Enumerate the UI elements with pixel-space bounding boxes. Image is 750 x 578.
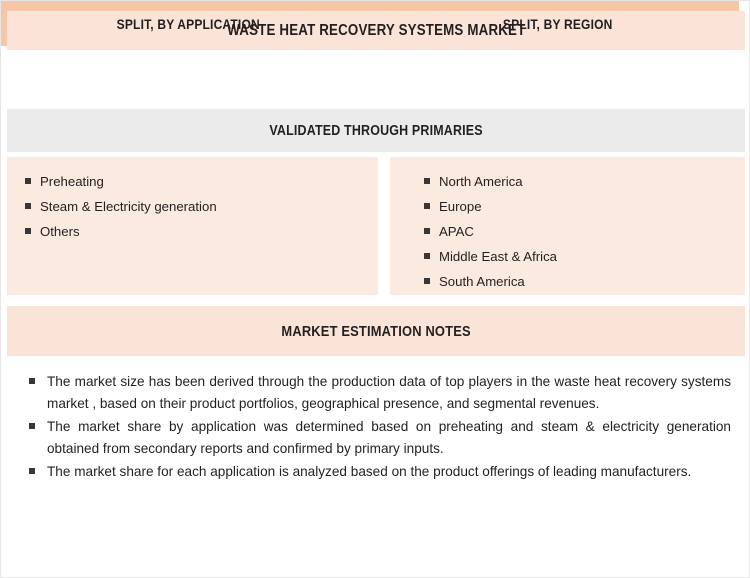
- application-item-label: Steam & Electricity generation: [40, 199, 217, 214]
- split-by-application-label: SPLIT, BY APPLICATION: [117, 16, 260, 32]
- validated-through-primaries-band: VALIDATED THROUGH PRIMARIES: [7, 109, 745, 152]
- list-item: South America: [422, 269, 729, 294]
- split-by-region-label: SPLIT, BY REGION: [503, 16, 613, 32]
- list-item: Middle East & Africa: [422, 244, 729, 269]
- list-item: Europe: [422, 194, 729, 219]
- list-item: The market share for each application is…: [21, 461, 731, 483]
- application-item-label: Others: [40, 224, 80, 239]
- region-item-label: South America: [439, 274, 525, 289]
- notes-list: The market size has been derived through…: [21, 371, 731, 483]
- region-item-label: Europe: [439, 199, 482, 214]
- list-item: Others: [23, 219, 362, 244]
- application-list: Preheating Steam & Electricity generatio…: [23, 169, 362, 244]
- list-item: North America: [422, 169, 729, 194]
- application-item-label: Preheating: [40, 174, 104, 189]
- market-title-label: WASTE HEAT RECOVERY SYSTEMS MARKET: [227, 22, 525, 40]
- region-item-label: APAC: [439, 224, 474, 239]
- note-text: The market share by application was dete…: [47, 419, 731, 456]
- validated-through-primaries-label: VALIDATED THROUGH PRIMARIES: [269, 123, 482, 139]
- list-item: The market share by application was dete…: [21, 416, 731, 459]
- region-item-label: Middle East & Africa: [439, 249, 557, 264]
- note-text: The market size has been derived through…: [47, 374, 731, 411]
- list-item: Preheating: [23, 169, 362, 194]
- list-item: The market size has been derived through…: [21, 371, 731, 414]
- application-list-box: Preheating Steam & Electricity generatio…: [7, 157, 378, 295]
- market-estimation-notes-band: MARKET ESTIMATION NOTES: [7, 306, 745, 356]
- note-text: The market share for each application is…: [47, 464, 691, 479]
- region-item-label: North America: [439, 174, 523, 189]
- list-item: Steam & Electricity generation: [23, 194, 362, 219]
- market-estimation-notes-area: The market size has been derived through…: [7, 363, 745, 568]
- market-estimation-notes-label: MARKET ESTIMATION NOTES: [281, 323, 470, 340]
- list-item: APAC: [422, 219, 729, 244]
- region-list: North America Europe APAC Middle East & …: [406, 169, 729, 294]
- market-estimation-diagram: WASTE HEAT RECOVERY SYSTEMS MARKET SPLIT…: [0, 0, 750, 578]
- region-list-box: North America Europe APAC Middle East & …: [390, 157, 745, 295]
